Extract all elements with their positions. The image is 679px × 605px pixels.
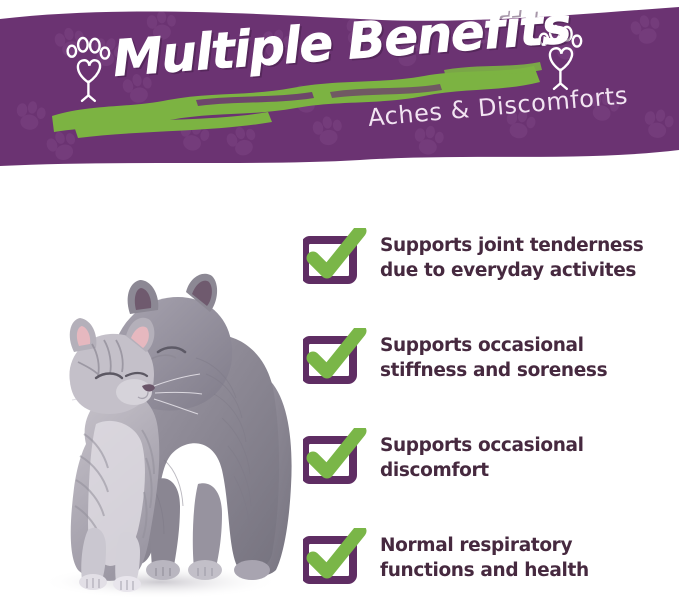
list-item-line1: Normal respiratory <box>380 533 679 558</box>
list-item: Supports occasional stiffness and sorene… <box>303 328 679 428</box>
list-item: Normal respiratory functions and health <box>303 528 679 605</box>
cats-illustration <box>0 248 300 605</box>
cats-photo <box>0 248 300 605</box>
list-item-line1: Supports joint tenderness <box>380 233 679 258</box>
checked-checkbox-icon[interactable] <box>303 228 369 284</box>
checked-checkbox-icon[interactable] <box>303 528 369 584</box>
benefits-list: Supports joint tenderness due to everyda… <box>303 228 679 605</box>
list-item-text: Supports occasional discomfort <box>380 433 679 483</box>
list-item-text: Supports occasional stiffness and sorene… <box>380 333 679 383</box>
list-item-line1: Supports occasional <box>380 433 679 458</box>
list-item-text: Supports joint tenderness due to everyda… <box>380 233 679 283</box>
list-item-line2: due to everyday activites <box>380 258 679 283</box>
checked-checkbox-icon[interactable] <box>303 428 369 484</box>
list-item-text: Normal respiratory functions and health <box>380 533 679 583</box>
list-item-line2: discomfort <box>380 458 679 483</box>
list-item-line2: functions and health <box>380 558 679 583</box>
list-item: Supports occasional discomfort <box>303 428 679 528</box>
checked-checkbox-icon[interactable] <box>303 328 369 384</box>
list-item-line2: stiffness and soreness <box>380 358 679 383</box>
list-item-line1: Supports occasional <box>380 333 679 358</box>
list-item: Supports joint tenderness due to everyda… <box>303 228 679 328</box>
header-banner: Multiple Benefits Aches & Discomforts <box>0 0 679 180</box>
product-benefits-infographic: Multiple Benefits Aches & Discomforts <box>0 0 679 605</box>
